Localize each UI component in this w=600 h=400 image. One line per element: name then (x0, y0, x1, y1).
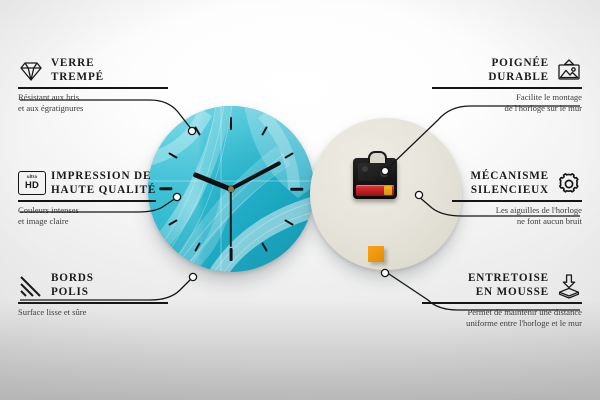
callout-rule (18, 302, 168, 304)
callout-title-line1: VERRE (51, 57, 104, 71)
connector-dot-impression (173, 193, 180, 200)
callout-desc-line2: de l'horloge sur le mur (432, 103, 582, 114)
ultra-hd-icon: ultra HD (18, 171, 44, 197)
foam-spacer-icon (556, 273, 582, 299)
callout-title-line2: HAUTE QUALITÉ (51, 184, 156, 198)
callout-header: VERRE TREMPÉ (18, 57, 168, 84)
infographic-canvas: VERRE TREMPÉ Résistant aux bris et aux é… (0, 0, 600, 400)
callout-header: MÉCANISME SILENCIEUX (452, 170, 582, 197)
callout-title-line2: DURABLE (488, 71, 549, 85)
connector-dot-entretoise (381, 269, 388, 276)
callout-titles: ENTRETOISE EN MOUSSE (468, 272, 549, 299)
callout-rule (452, 200, 582, 202)
callout-impression-haute-qualite: ultra HD IMPRESSION DE HAUTE QUALITÉ Cou… (18, 170, 156, 227)
callout-title-line2: EN MOUSSE (468, 286, 549, 300)
diamond-icon (18, 58, 44, 84)
callout-titles: MÉCANISME SILENCIEUX (470, 170, 549, 197)
callout-header: POIGNÉE DURABLE (432, 57, 582, 84)
callout-desc-line2: et image claire (18, 216, 156, 227)
callout-desc-line1: Permet de maintenir une distance (422, 307, 582, 318)
callout-desc-line1: Facilite le montage (432, 92, 582, 103)
callout-title-line1: BORDS (51, 272, 94, 286)
callout-title-line2: SILENCIEUX (470, 184, 549, 198)
callout-header: ultra HD IMPRESSION DE HAUTE QUALITÉ (18, 170, 156, 197)
callout-title-line2: TREMPÉ (51, 71, 104, 85)
callout-bords-polis: BORDS POLIS Surface lisse et sûre (18, 272, 168, 318)
connector-line-poignee (386, 106, 580, 170)
callout-desc-line1: Surface lisse et sûre (18, 307, 168, 318)
callout-title-line2: POLIS (51, 286, 94, 300)
callout-titles: BORDS POLIS (51, 272, 94, 299)
callout-verre-trempe: VERRE TREMPÉ Résistant aux bris et aux é… (18, 57, 168, 114)
callout-titles: IMPRESSION DE HAUTE QUALITÉ (51, 170, 156, 197)
callout-desc-line2: ne font aucun bruit (452, 216, 582, 227)
gear-icon (556, 171, 582, 197)
callout-titles: VERRE TREMPÉ (51, 57, 104, 84)
callout-header: BORDS POLIS (18, 272, 168, 299)
callout-rule (432, 87, 582, 89)
callout-title-line1: POIGNÉE (488, 57, 549, 71)
connector-dot-verre-trempe (188, 127, 195, 134)
callout-desc-line1: Couleurs intenses (18, 205, 156, 216)
callout-rule (18, 200, 156, 202)
polished-edges-icon (18, 273, 44, 299)
callout-mecanisme-silencieux: MÉCANISME SILENCIEUX Les aiguilles de l'… (452, 170, 582, 227)
connector-dot-bords-polis (189, 273, 196, 280)
connector-dot-poignee (381, 167, 388, 174)
callout-desc-line1: Les aiguilles de l'horloge (452, 205, 582, 216)
callout-header: ENTRETOISE EN MOUSSE (422, 272, 582, 299)
callout-title-line1: MÉCANISME (470, 170, 549, 184)
callout-desc-line1: Résistant aux bris (18, 92, 168, 103)
callout-desc-line2: uniforme entre l'horloge et le mur (422, 318, 582, 329)
ultra-hd-icon-main-text: HD (25, 180, 39, 189)
callout-title-line1: IMPRESSION DE (51, 170, 156, 184)
connector-dot-mecanisme (415, 191, 422, 198)
callout-entretoise-en-mousse: ENTRETOISE EN MOUSSE Permet de maintenir… (422, 272, 582, 329)
picture-hanger-icon (556, 58, 582, 84)
callout-poignee-durable: POIGNÉE DURABLE Facilite le montage de l… (432, 57, 582, 114)
callout-rule (422, 302, 582, 304)
callout-rule (18, 87, 168, 89)
callout-desc-line2: et aux égratignures (18, 103, 168, 114)
callout-titles: POIGNÉE DURABLE (488, 57, 549, 84)
callout-title-line1: ENTRETOISE (468, 272, 549, 286)
